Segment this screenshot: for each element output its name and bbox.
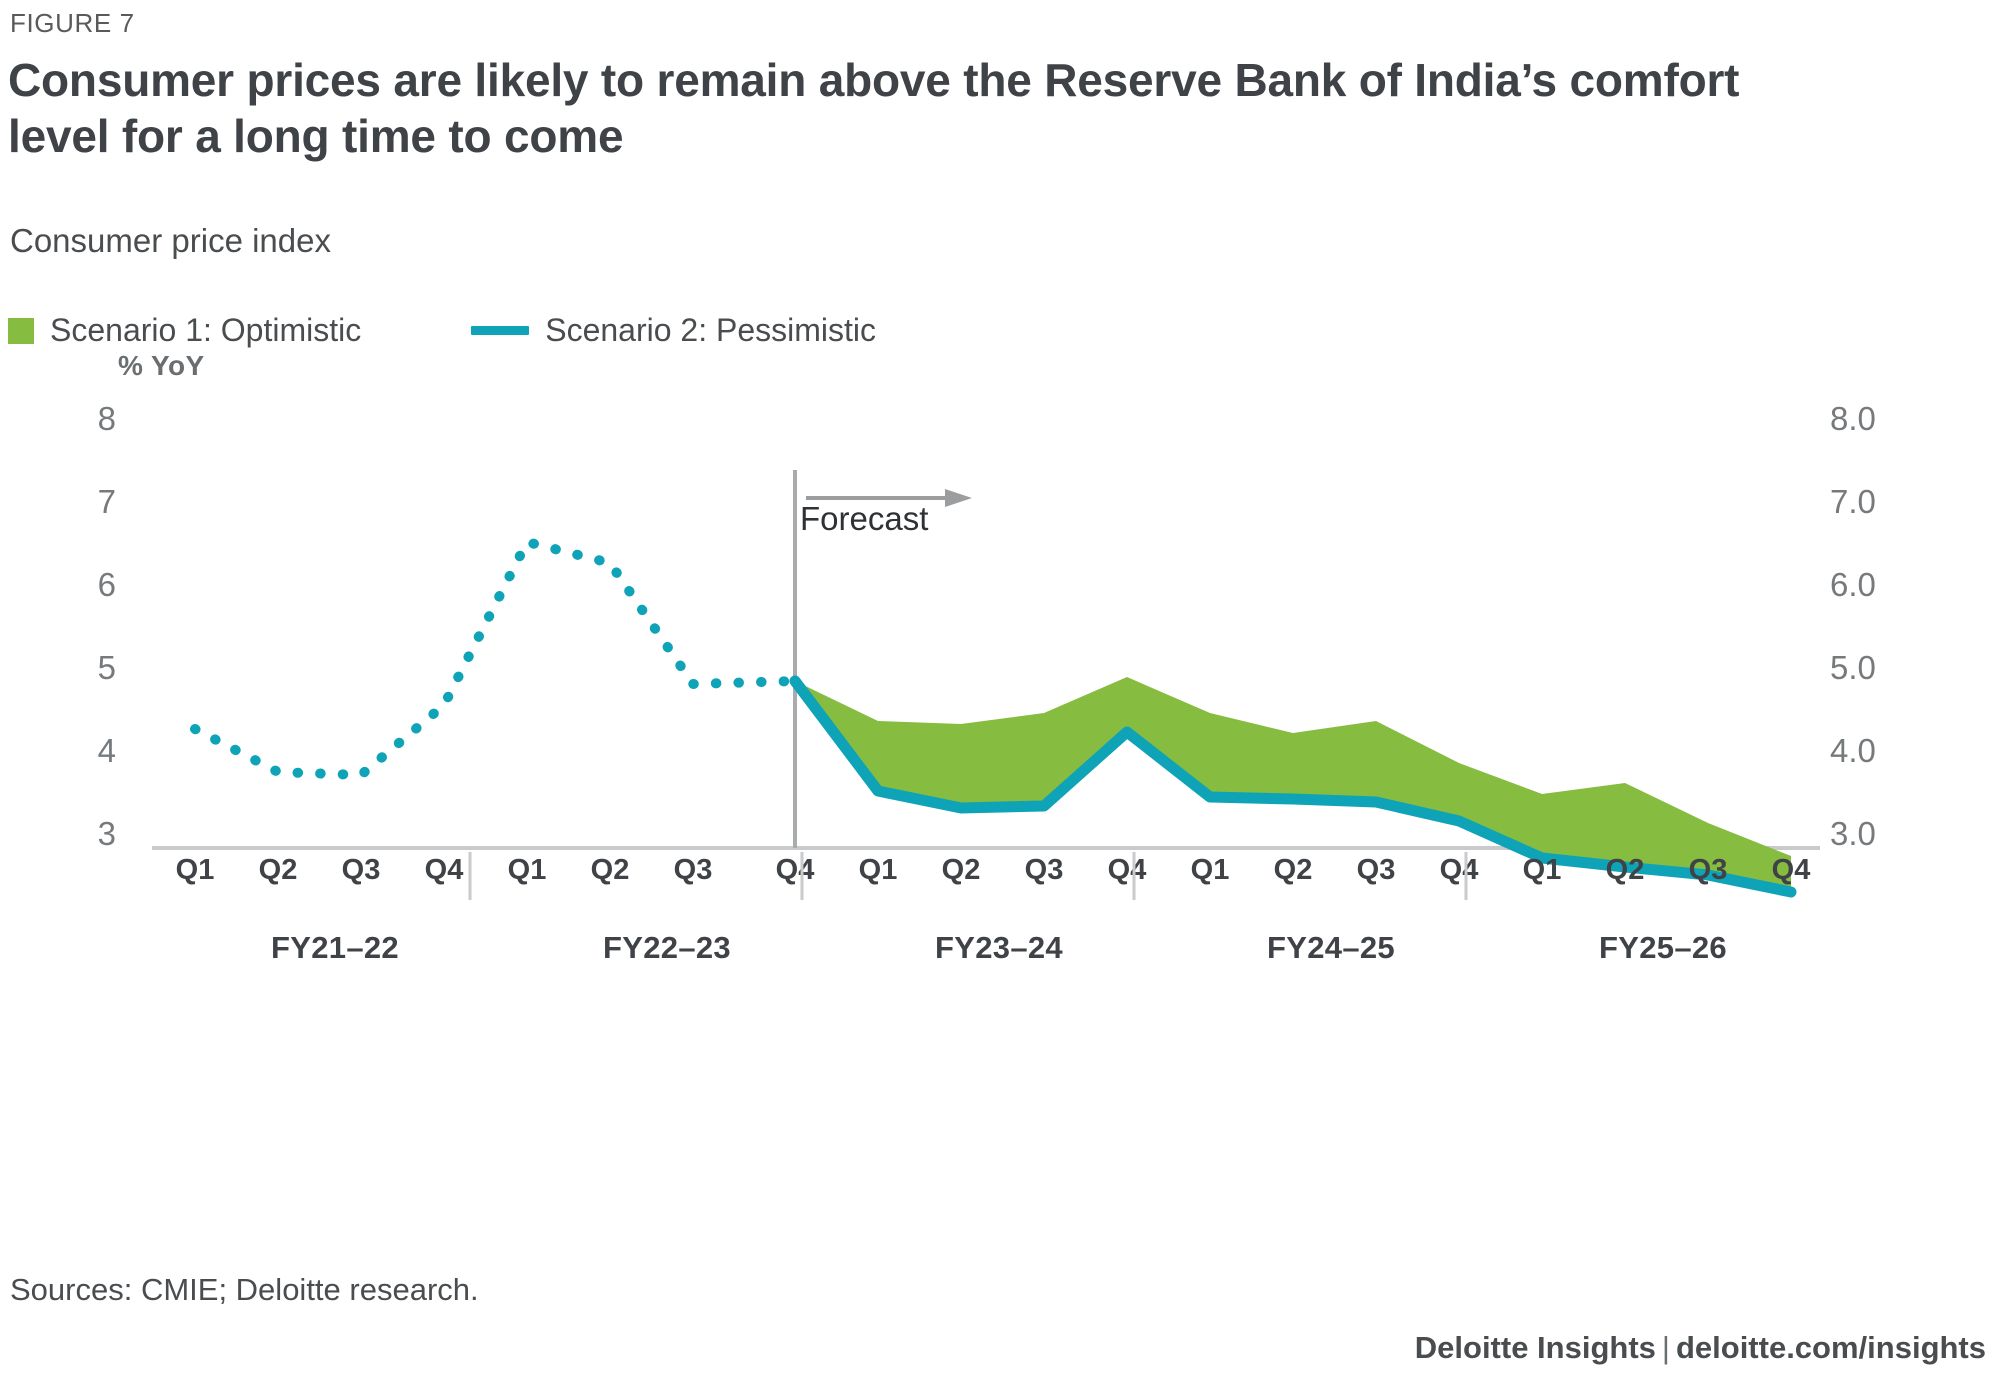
y-axis-tick-right-8: 8.0 xyxy=(1830,400,1920,438)
y-axis-tick-left-8: 8 xyxy=(56,400,116,438)
fy-separators xyxy=(0,848,2000,908)
brand-name: Deloitte Insights xyxy=(1415,1330,1656,1365)
y-axis-tick-left-4: 4 xyxy=(56,732,116,770)
chart-subtitle: Consumer price index xyxy=(10,222,331,260)
y-axis-tick-left-5: 5 xyxy=(56,649,116,687)
y-axis-tick-right-5: 5.0 xyxy=(1830,649,1920,687)
y-axis-tick-left-7: 7 xyxy=(56,483,116,521)
brand-url[interactable]: deloitte.com/insights xyxy=(1676,1330,1986,1365)
figure-number: FIGURE 7 xyxy=(10,8,135,39)
figure-page: FIGURE 7 Consumer prices are likely to r… xyxy=(0,0,2000,1386)
y-axis-tick-right-6: 6.0 xyxy=(1830,566,1920,604)
sources-note: Sources: CMIE; Deloitte research. xyxy=(10,1272,479,1308)
historical-dotted-line xyxy=(195,542,795,775)
fy-group-label-2425: FY24–25 xyxy=(1171,930,1491,966)
title-line-2: level for a long time to come xyxy=(8,108,1908,164)
y-axis-tick-right-7: 7.0 xyxy=(1830,483,1920,521)
title-line-1: Consumer prices are likely to remain abo… xyxy=(8,54,1739,106)
chart-plot-area: % YoY 8 7 6 5 4 3 8.0 7.0 6.0 5.0 4.0 3.… xyxy=(0,340,2000,1100)
legend-line-swatch-icon xyxy=(471,326,529,335)
y-axis-tick-right-4: 4.0 xyxy=(1830,732,1920,770)
brand-footer: Deloitte Insights|deloitte.com/insights xyxy=(1415,1330,1986,1366)
fy-group-label-2223: FY22–23 xyxy=(507,930,827,966)
y-axis-unit-label: % YoY xyxy=(118,350,205,382)
chart-svg xyxy=(0,340,2000,1100)
forecast-label: Forecast xyxy=(800,500,928,538)
brand-separator: | xyxy=(1656,1330,1676,1365)
y-axis-tick-left-6: 6 xyxy=(56,566,116,604)
fy-group-label-2122: FY21–22 xyxy=(175,930,495,966)
page-title: Consumer prices are likely to remain abo… xyxy=(8,52,1908,164)
fy-group-label-2526: FY25–26 xyxy=(1503,930,1823,966)
fy-group-label-2324: FY23–24 xyxy=(839,930,1159,966)
